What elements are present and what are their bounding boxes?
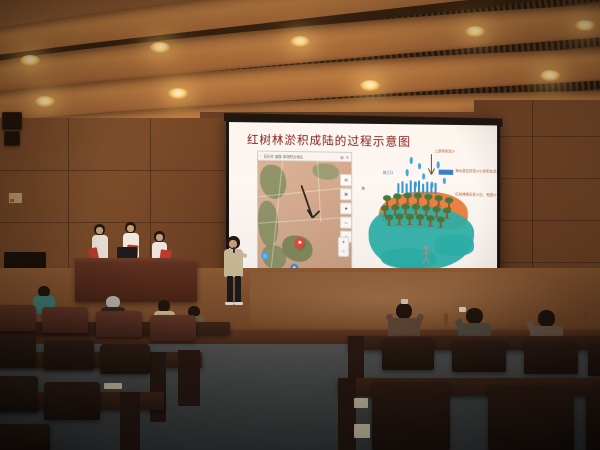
zoom-in-button[interactable]: + [339,238,348,247]
person-figure-icon [420,245,432,266]
seat [382,338,434,370]
desk-side-panel [348,336,364,382]
mangrove-tree [395,214,403,225]
mangrove-diagram: 海 珠江口 上游带来泥沙 海水退去的泥\n沙淤积在此处 [360,146,490,287]
diagram-annotation-mangrove: 红树林根系发\n达，有固沙促淤\n作用，泥沙不断\n淤积逐渐形成\n新的陆地 [455,192,497,198]
ceiling-spotlight [465,26,485,37]
seat [0,336,36,366]
close-icon[interactable]: ✕ [346,154,349,159]
ruler-icon[interactable]: ▭ [340,216,352,228]
microphone-icon [233,247,235,253]
paper-sheet [354,398,368,408]
wall-speaker [2,112,22,130]
mangrove-tree [414,193,422,204]
seat [488,386,574,450]
satellite-icon[interactable]: ◆ [340,202,352,214]
ceiling-spotlight [540,70,560,81]
legend-swatch [439,170,454,175]
mangrove-tree [406,214,414,225]
seat [150,315,196,341]
mangrove-tree [385,214,393,225]
seat [0,305,36,331]
podium [75,262,197,302]
seat [44,340,94,370]
desk-side-panel [120,392,140,450]
water-bottle [444,314,448,326]
map-canvas[interactable]: ▤ ▦ ◆ ▭ ✧ + − ◎ ▣ [258,161,351,276]
mangrove-tree [435,195,443,206]
seat [100,344,150,374]
mangrove-tree [393,193,401,204]
seat [524,342,578,374]
map-app-screenshot: ‹ 百石村 道路 库场附近地区 ◍ ✕ [257,150,352,285]
ceiling-spotlight [360,80,380,91]
locate-icon[interactable]: ◎ [261,252,269,260]
paper-sheet [354,424,370,438]
desk-side-panel [150,352,166,422]
seat [42,307,88,333]
desk-side-panel [338,378,356,450]
diagram-annotation-deposit: 海水退去的泥\n沙淤积在此处 [455,169,497,174]
diagram-annotation-estuary: 珠江口 [383,171,393,175]
ceiling-spotlight [290,36,310,47]
desk-side-panel [178,350,200,406]
mangrove-tree [424,194,432,205]
mangrove-tree [404,192,412,203]
phone-device [459,307,466,312]
slide-content: 红树林淤积成陆的过程示意图 ‹ 百石村 道路 库场附近地区 ◍ ✕ [229,122,497,291]
seat [372,382,450,450]
traffic-icon[interactable]: ▦ [340,188,352,200]
wall-speaker [4,131,20,146]
annotation-arrow [298,183,322,234]
map-zoom-controls[interactable]: + − [338,237,349,257]
ceiling-spotlight [20,55,40,66]
map-search-text: 百石村 道路 库场附近地区 [263,153,303,159]
seat [96,311,142,337]
seat [452,340,506,372]
mangrove-tree [416,214,424,225]
seat [44,382,100,420]
ceiling-spotlight [35,96,55,107]
zoom-out-button[interactable]: − [339,247,348,256]
map-location-pin[interactable] [294,238,304,251]
map-tool-rail[interactable]: ▤ ▦ ◆ ▭ ✧ [340,174,350,243]
chevron-left-icon[interactable]: ‹ [260,153,261,158]
mangrove-tree [426,215,434,226]
phone-device [401,299,408,304]
mangrove-tree [437,216,445,227]
ceiling-spotlight [168,88,188,99]
seat [586,390,600,450]
seat [0,376,38,412]
ceiling-spotlight [575,20,595,31]
seat [0,424,50,450]
fire-alarm-unit [8,192,23,204]
ceiling-spotlight [150,42,170,53]
seat [588,344,600,376]
water-bottle [584,312,588,324]
paper-sheet [104,383,122,389]
diagram-annotation-sea: 海 [361,186,364,190]
layers-icon[interactable]: ▤ [340,174,352,186]
microphone-icon[interactable]: ◍ [340,154,344,159]
auditorium-photo: 红树林淤积成陆的过程示意图 ‹ 百石村 道路 库场附近地区 ◍ ✕ [0,0,600,450]
